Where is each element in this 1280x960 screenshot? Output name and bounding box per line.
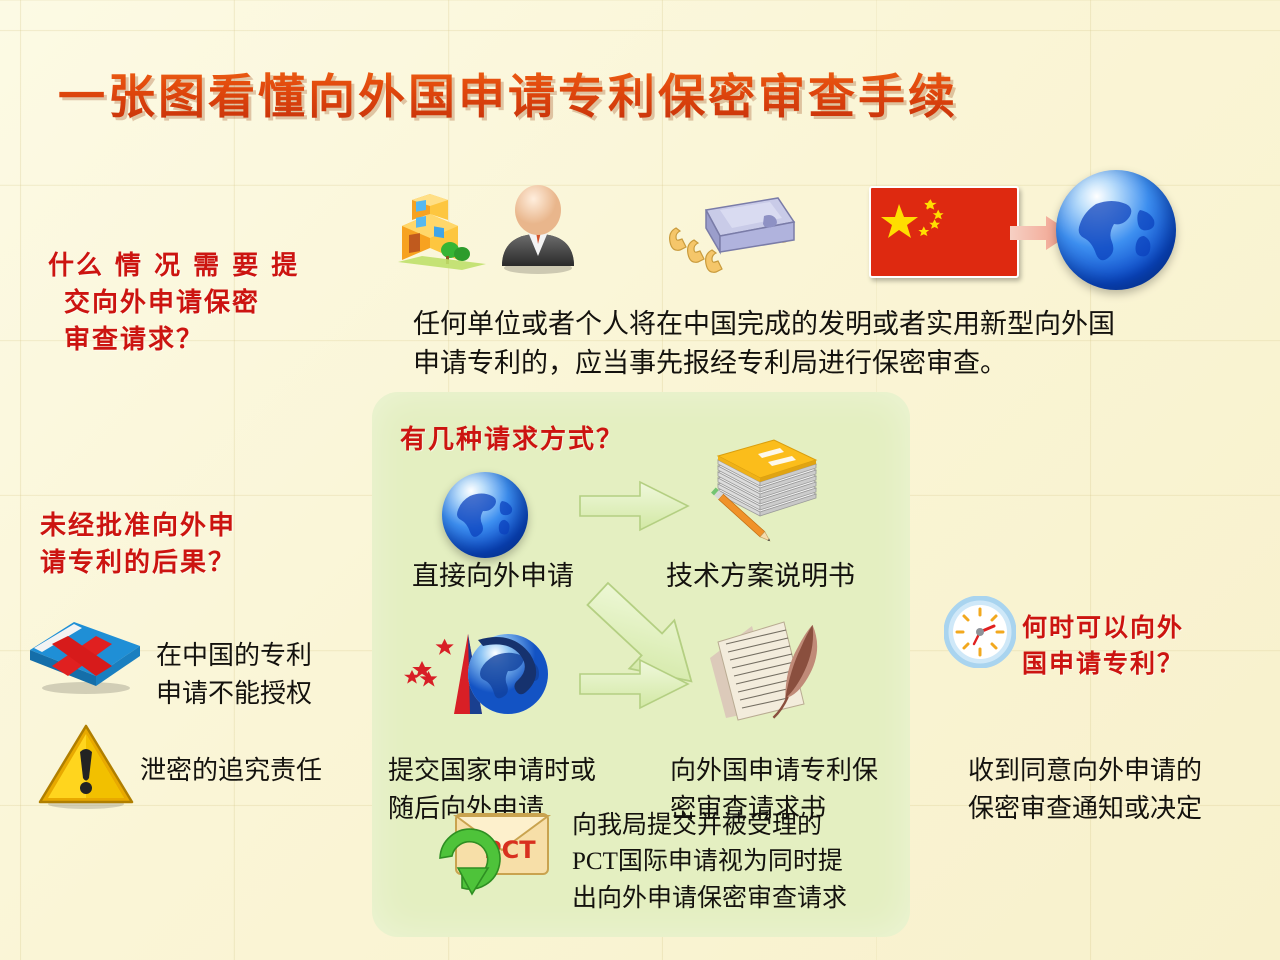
question-when-required-heading: 什么 情 况 需 要 提 交向外申请保密 审查请求？ (48, 248, 299, 359)
consequence-label-leak: 泄密的追究责任 (140, 752, 322, 790)
description-line: 任何单位或者个人将在中国完成的发明或者实用新型向外国 (413, 305, 1193, 344)
label-line: 向我局提交并被受理的 (572, 808, 912, 844)
description-line: 申请专利的，应当事先报经专利局进行保密审查。 (413, 344, 1193, 383)
heading-line: 何时可以向外 (1022, 610, 1184, 646)
answer-line: 保密审查通知或决定 (968, 790, 1258, 828)
consequence-label-no-grant: 在中国的专利 申请不能授权 (156, 637, 356, 712)
when-allowed-answer: 收到同意向外申请的 保密审查通知或决定 (968, 752, 1258, 827)
label-line: 提交国家申请时或 (388, 752, 638, 790)
china-flag-icon (869, 186, 1019, 278)
pct-envelope-icon: PCT (432, 806, 556, 898)
heading-line: 什么 情 况 需 要 提 (48, 248, 299, 285)
arrow-right-icon (578, 478, 690, 534)
heading-line: 国申请专利？ (1022, 646, 1184, 682)
flow-label-pct: 向我局提交并被受理的 PCT国际申请视为同时提 出向外申请保密审查请求 (572, 808, 912, 917)
chip-icon (660, 188, 800, 276)
question-consequences-heading: 未经批准向外申 请专利的后果？ (40, 508, 236, 582)
globe-icon (1056, 170, 1176, 290)
person-icon (492, 182, 584, 274)
question-methods-heading: 有几种请求方式？ (400, 422, 624, 459)
infographic-poster: 一张图看懂向外国申请专利保密审查手续 一张图看懂向外国申请专利保密审查手续 (0, 0, 1280, 960)
label-line: 出向外申请保密审查请求 (572, 881, 912, 917)
label-line: PCT国际申请视为同时提 (572, 844, 912, 880)
question-when-allowed-heading: 何时可以向外 国申请专利？ (1022, 610, 1184, 681)
heading-line: 请专利的后果？ (40, 545, 236, 582)
building-icon (392, 186, 488, 272)
arrow-right-icon (578, 656, 690, 712)
warning-triangle-icon (38, 722, 134, 810)
cnipa-logo-icon (404, 622, 556, 722)
answer-line: 收到同意向外申请的 (968, 752, 1258, 790)
label-line: 在中国的专利 (156, 637, 356, 675)
heading-line: 交向外申请保密 (48, 285, 299, 322)
paper-stack-icon (704, 434, 830, 550)
label-line: 申请不能授权 (156, 675, 356, 713)
clock-icon (944, 596, 1016, 668)
label-line: 向外国申请专利保 (670, 752, 910, 790)
heading-line: 审查请求？ (48, 322, 299, 359)
flow-label-direct-abroad: 直接向外申请 (412, 557, 574, 596)
page-title: 一张图看懂向外国申请专利保密审查手续 (58, 58, 998, 127)
globe-icon (442, 472, 528, 558)
heading-line: 未经批准向外申 (40, 508, 236, 545)
manuscript-quill-icon (700, 612, 834, 730)
book-x-icon (24, 604, 144, 696)
main-description: 任何单位或者个人将在中国完成的发明或者实用新型向外国 申请专利的，应当事先报经专… (413, 305, 1193, 383)
